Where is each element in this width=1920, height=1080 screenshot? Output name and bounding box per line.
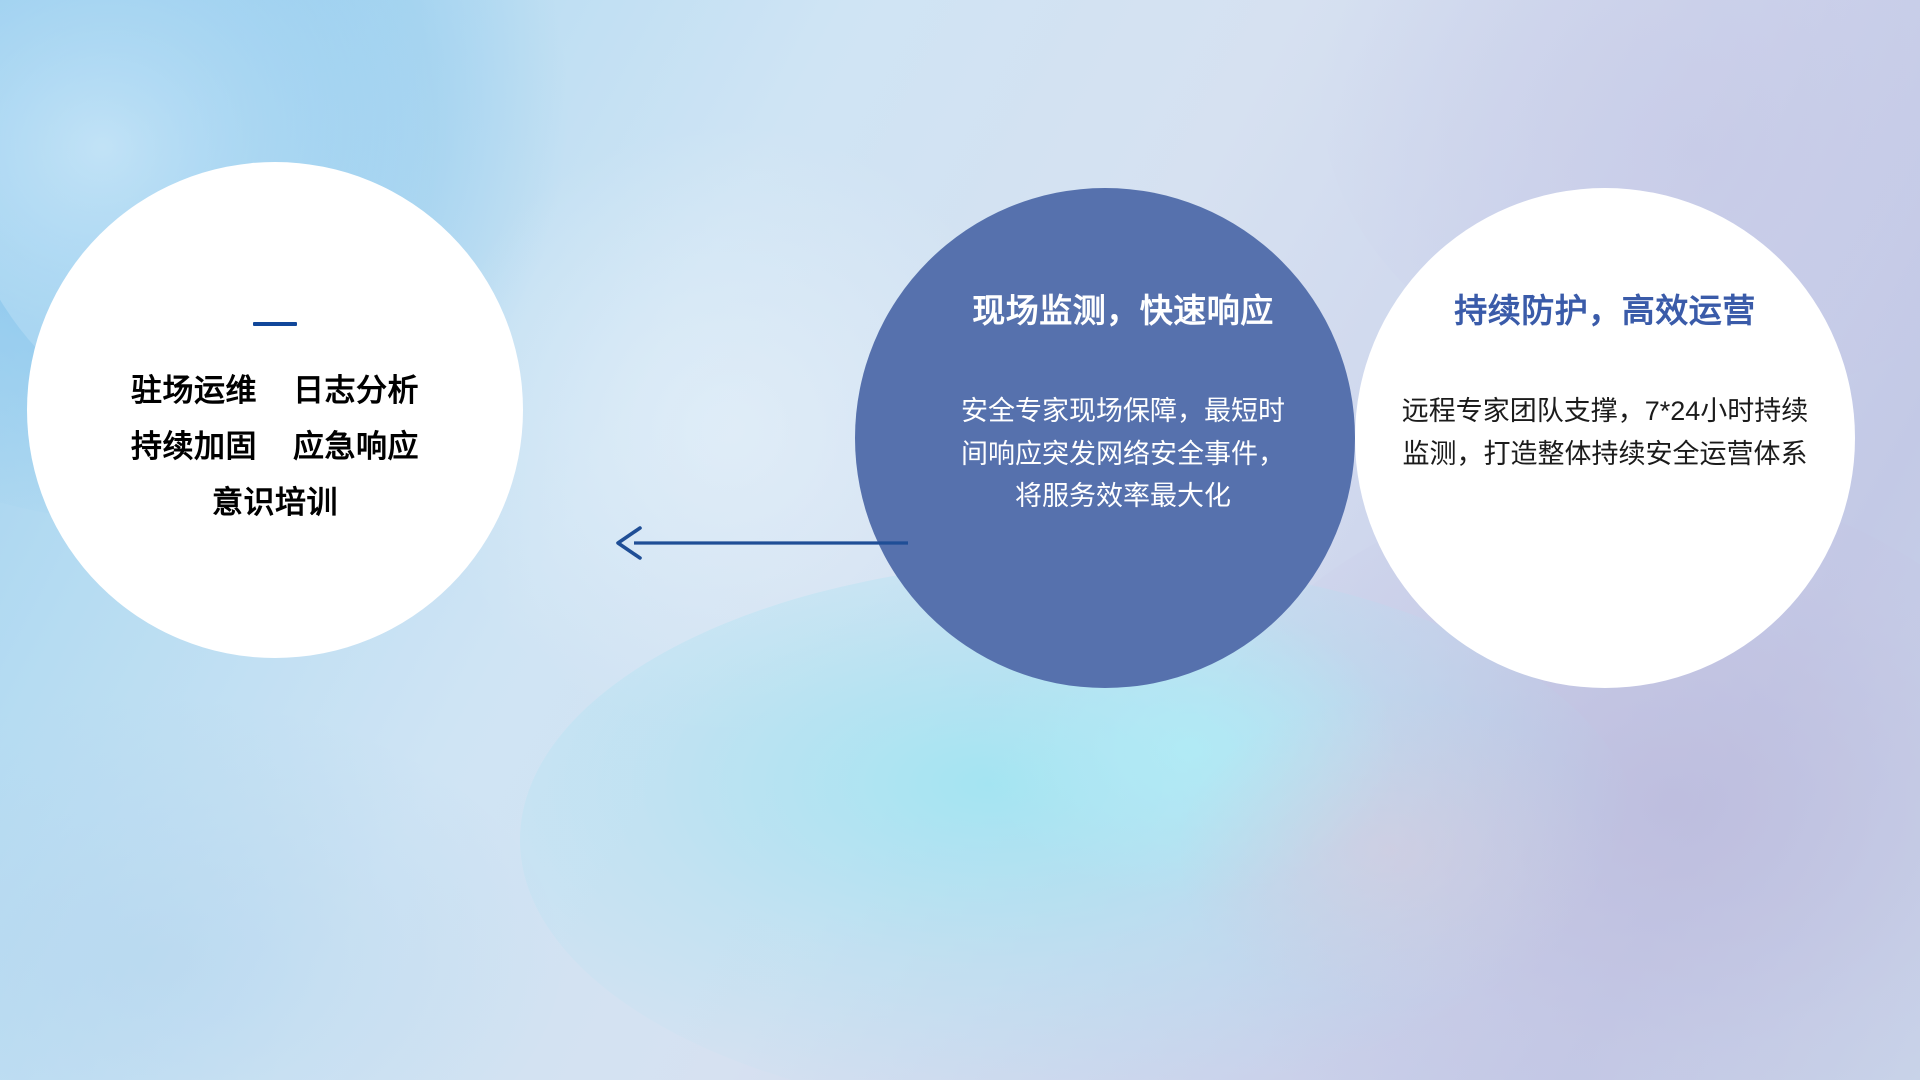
capability-row: 持续加固 应急响应 (131, 430, 419, 464)
capability-row: 驻场运维 日志分析 (131, 374, 419, 408)
capabilities-circle[interactable]: 驻场运维 日志分析 持续加固 应急响应 意识培训 (27, 162, 523, 658)
capability-keyword: 应急响应 (293, 430, 419, 464)
accent-dash-icon (253, 322, 297, 326)
continuous-protection-circle[interactable]: 持续防护，高效运营 远程专家团队支撑，7*24小时持续监测，打造整体持续安全运营… (1355, 188, 1855, 688)
slide-canvas: 驻场运维 日志分析 持续加固 应急响应 意识培训 现场监测，快速响应 安全专家现… (0, 0, 1920, 1080)
continuous-protection-content: 持续防护，高效运营 远程专家团队支撑，7*24小时持续监测，打造整体持续安全运营… (1385, 284, 1825, 475)
onsite-monitoring-title: 现场监测，快速响应 (972, 284, 1274, 332)
continuous-protection-title: 持续防护，高效运营 (1454, 284, 1756, 332)
capability-keyword: 日志分析 (293, 374, 419, 408)
onsite-monitoring-body: 安全专家现场保障，最短时间响应突发网络安全事件，将服务效率最大化 (958, 390, 1288, 518)
capability-keyword: 驻场运维 (131, 374, 257, 408)
capability-row: 意识培训 (212, 486, 338, 520)
capability-keyword: 意识培训 (212, 486, 338, 520)
onsite-monitoring-content: 现场监测，快速响应 安全专家现场保障，最短时间响应突发网络安全事件，将服务效率最… (933, 284, 1313, 518)
capability-keyword: 持续加固 (131, 430, 257, 464)
arrow-left-icon (608, 520, 908, 566)
continuous-protection-body: 远程专家团队支撑，7*24小时持续监测，打造整体持续安全运营体系 (1395, 390, 1815, 475)
onsite-monitoring-circle[interactable]: 现场监测，快速响应 安全专家现场保障，最短时间响应突发网络安全事件，将服务效率最… (855, 188, 1355, 688)
capabilities-content: 驻场运维 日志分析 持续加固 应急响应 意识培训 (27, 162, 523, 658)
capability-keyword-list: 驻场运维 日志分析 持续加固 应急响应 意识培训 (131, 374, 419, 520)
